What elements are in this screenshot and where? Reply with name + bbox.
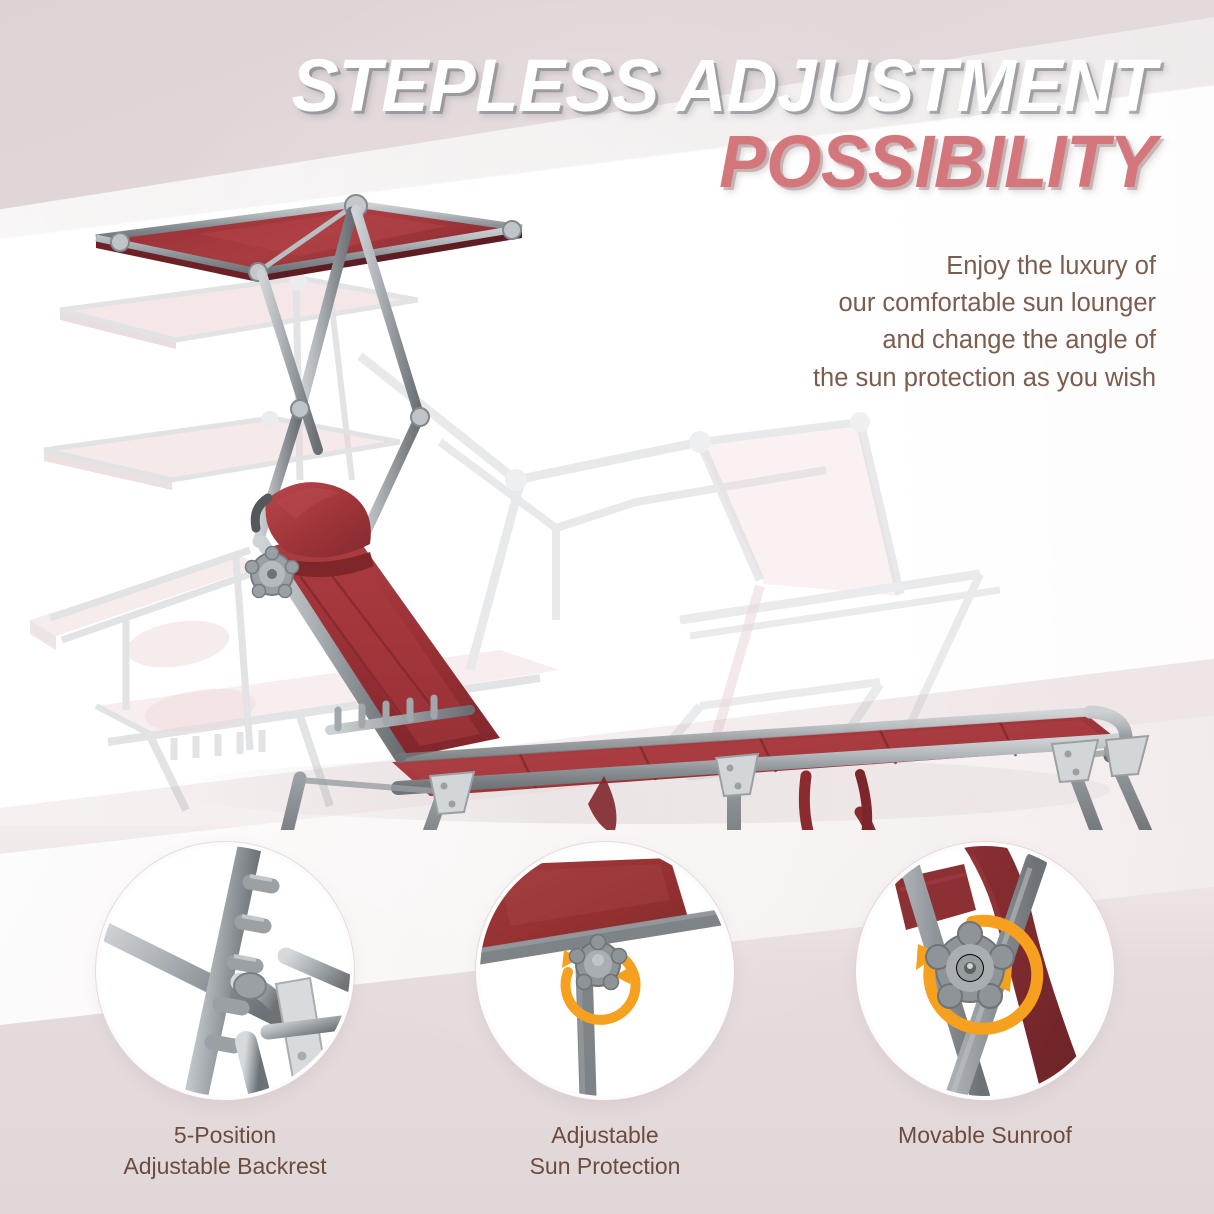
inset-photo-circle-2 [480, 846, 730, 1096]
description-line-1: Enjoy the luxury of [726, 248, 1156, 285]
inset-caption-2: Adjustable Sun Protection [480, 1120, 730, 1182]
ghost-backrest-raised [360, 356, 900, 670]
headline-block: STEPLESS ADJUSTMENT POSSIBILITY [0, 52, 1156, 196]
description-line-3: and change the angle of [726, 322, 1156, 359]
canopy-hinge-right [503, 221, 521, 239]
description-line-2: our comfortable sun lounger [726, 285, 1156, 322]
feature-inset-row: 5-Position Adjustable Backrest [0, 846, 1214, 1214]
canopy-hinge-left [111, 233, 129, 251]
inset-caption-3-line-1: Movable Sunroof [860, 1120, 1110, 1151]
inset-photo-circle-1 [100, 846, 350, 1096]
inset-caption-1-line-2: Adjustable Backrest [100, 1151, 350, 1182]
feature-inset-backrest-ratchet[interactable]: 5-Position Adjustable Backrest [100, 846, 350, 1182]
inset-photo-circle-3 [860, 846, 1110, 1096]
inset-caption-1: 5-Position Adjustable Backrest [100, 1120, 350, 1182]
feature-inset-sun-protection[interactable]: Adjustable Sun Protection [480, 846, 730, 1182]
feature-inset-movable-sunroof[interactable]: Movable Sunroof [860, 846, 1110, 1151]
description-paragraph: Enjoy the luxury of our comfortable sun … [726, 248, 1156, 397]
headline-line-1: STEPLESS ADJUSTMENT [46, 52, 1156, 120]
description-line-4: the sun protection as you wish [726, 360, 1156, 397]
inset-caption-2-line-1: Adjustable [480, 1120, 730, 1151]
bracket-mid [716, 754, 758, 796]
inset-caption-1-line-1: 5-Position [100, 1120, 350, 1151]
inset-caption-2-line-2: Sun Protection [480, 1151, 730, 1182]
bracket-right [1052, 740, 1098, 782]
headline-line-2: POSSIBILITY [46, 128, 1156, 196]
inset-caption-3: Movable Sunroof [860, 1120, 1110, 1151]
banner-stage: STEPLESS ADJUSTMENT POSSIBILITY Enjoy th… [0, 0, 1214, 1214]
bracket-far-right [1106, 736, 1148, 776]
